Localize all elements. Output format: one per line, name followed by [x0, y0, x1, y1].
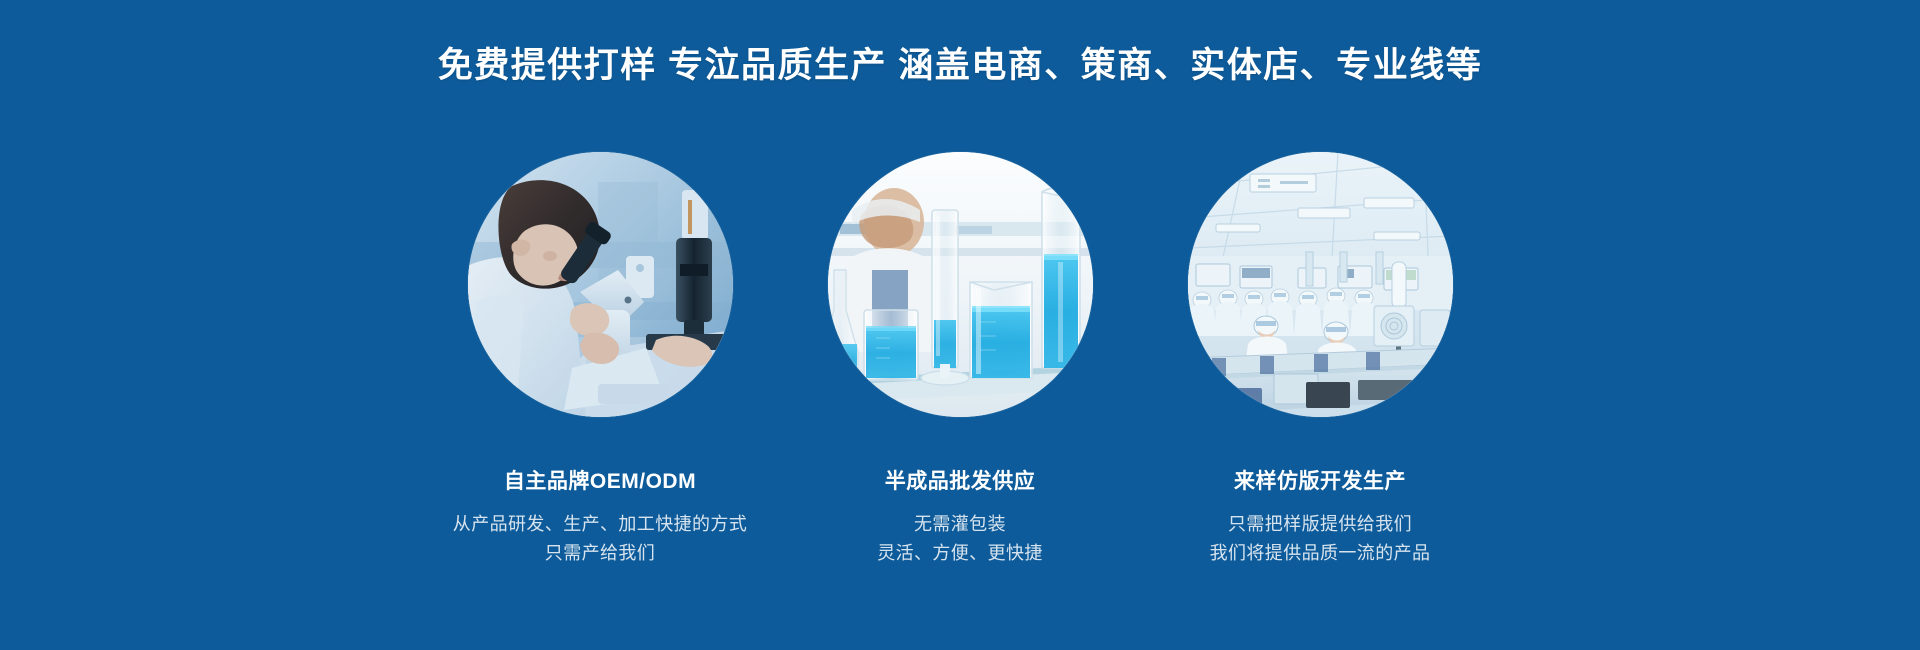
- card-title: 自主品牌OEM/ODM: [504, 465, 696, 495]
- card-line: 无需灌包装: [877, 510, 1043, 539]
- card-description: 无需灌包装 灵活、方便、更快捷: [877, 510, 1043, 568]
- card-line: 从产品研发、生产、加工快捷的方式: [453, 510, 747, 539]
- card-line: 灵活、方便、更快捷: [877, 539, 1043, 568]
- card-title: 半成品批发供应: [885, 465, 1036, 495]
- lab-glassware-blue-liquid-photo: [828, 152, 1093, 417]
- card-line: 只需把样版提供给我们: [1210, 510, 1431, 539]
- scientist-microscope-photo: [468, 152, 733, 417]
- promo-banner: 免费提供打样 专泣品质生产 涵盖电商、策商、实体店、专业线等: [0, 0, 1920, 650]
- feature-cards-row: 自主品牌OEM/ODM 从产品研发、生产、加工快捷的方式 只需产给我们: [0, 152, 1920, 568]
- card-line: 只需产给我们: [453, 539, 747, 568]
- card-description: 从产品研发、生产、加工快捷的方式 只需产给我们: [453, 510, 747, 568]
- card-title: 来样仿版开发生产: [1234, 465, 1406, 495]
- feature-card-oem-odm[interactable]: 自主品牌OEM/ODM 从产品研发、生产、加工快捷的方式 只需产给我们: [465, 152, 735, 568]
- cleanroom-production-line-photo: [1188, 152, 1453, 417]
- card-description: 只需把样版提供给我们 我们将提供品质一流的产品: [1210, 510, 1431, 568]
- card-line: 我们将提供品质一流的产品: [1210, 539, 1431, 568]
- banner-headline: 免费提供打样 专泣品质生产 涵盖电商、策商、实体店、专业线等: [0, 44, 1920, 88]
- feature-card-semi-finished[interactable]: 半成品批发供应 无需灌包装 灵活、方便、更快捷: [825, 152, 1095, 568]
- feature-card-sample-replication[interactable]: 来样仿版开发生产 只需把样版提供给我们 我们将提供品质一流的产品: [1185, 152, 1455, 568]
